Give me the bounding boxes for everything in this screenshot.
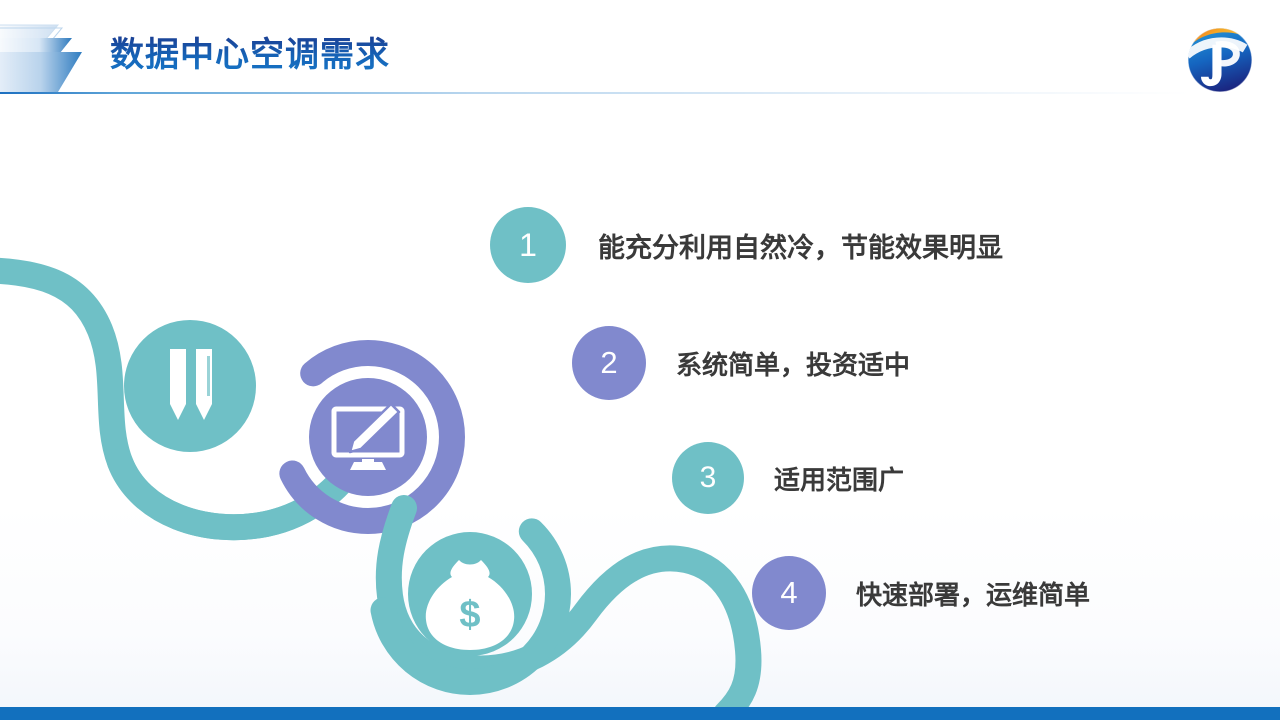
bullet-label: 系统简单，投资适中 [676,345,910,382]
footer-bar [0,707,1280,720]
bullet-label: 快速部署，运维简单 [856,575,1090,612]
list-item[interactable]: 2 系统简单，投资适中 [572,326,910,400]
bullet-number-badge: 2 [572,326,646,400]
slide: $ [0,0,1280,720]
bullet-number-badge: 1 [490,207,566,283]
bullet-label: 能充分利用自然冷，节能效果明显 [598,226,1003,265]
bullet-label: 适用范围广 [774,460,904,497]
bullet-number-badge: 3 [672,442,744,514]
list-item[interactable]: 3 适用范围广 [672,442,904,514]
bullet-number-badge: 4 [752,556,826,630]
list-item[interactable]: 1 能充分利用自然冷，节能效果明显 [490,207,1003,283]
list-item[interactable]: 4 快速部署，运维简单 [752,556,1090,630]
bullet-list: 1 能充分利用自然冷，节能效果明显 2 系统简单，投资适中 3 适用范围广 4 … [0,0,1280,720]
